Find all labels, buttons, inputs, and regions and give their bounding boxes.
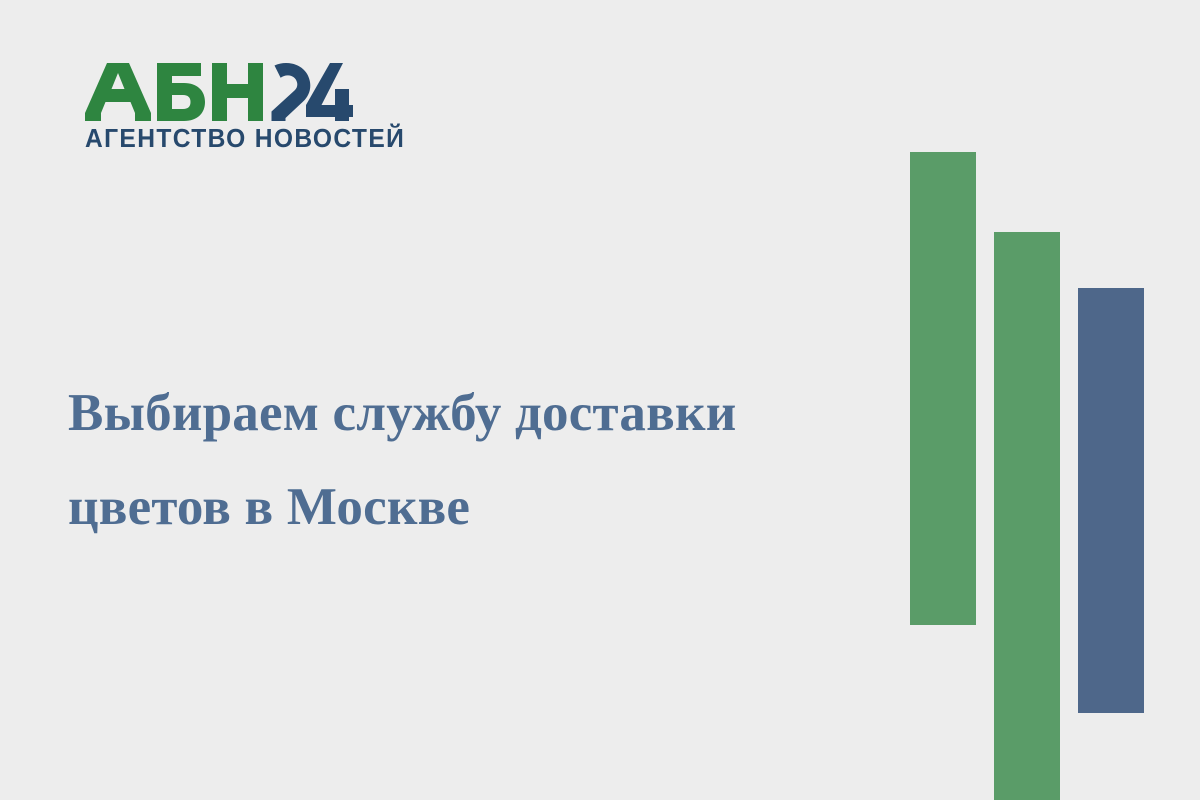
logo-wordmark [85,63,353,121]
logo-digit-4 [306,63,353,121]
logo-tagline: АГЕНТСТВО НОВОСТЕЙ [85,127,355,153]
logo-digit-2 [272,63,311,121]
decorative-bar-2 [994,232,1060,800]
abn24-logo[interactable]: АГЕНТСТВО НОВОСТЕЙ [85,63,365,153]
logo-letter-n [212,63,263,121]
headline-line-2: цветов в Москве [68,478,470,536]
page-title: Выбираем службу доставки цветов в Москве [68,366,888,554]
decorative-bar-1 [910,152,976,625]
logo-letter-a [85,63,151,121]
decorative-bar-3 [1078,288,1144,713]
news-card: АГЕНТСТВО НОВОСТЕЙ Выбираем службу доста… [0,0,1200,800]
headline-line-1: Выбираем службу доставки [68,384,736,442]
logo-letter-b [157,63,205,121]
